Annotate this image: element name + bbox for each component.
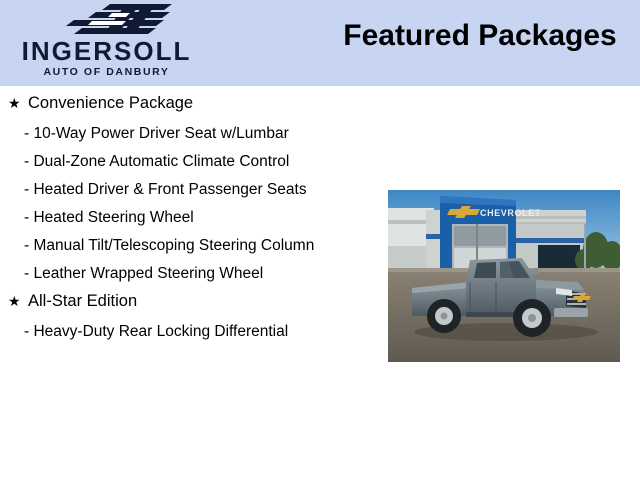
package-feature: - Heated Steering Wheel — [0, 200, 380, 228]
star-bullet-icon: ★ — [8, 290, 21, 312]
vehicle-photo: CHEVROLET — [388, 190, 620, 362]
package-heading: ★ All-Star Edition — [0, 284, 380, 314]
featured-packages-list: ★ Convenience Package - 10-Way Power Dri… — [0, 86, 380, 342]
page-header: INGERSOLL AUTO OF DANBURY Featured Packa… — [0, 0, 640, 86]
star-bullet-icon: ★ — [8, 92, 21, 114]
content-area: ★ Convenience Package - 10-Way Power Dri… — [0, 86, 640, 480]
package-feature: - Leather Wrapped Steering Wheel — [0, 256, 380, 284]
svg-text:CHEVROLET: CHEVROLET — [480, 208, 541, 218]
package-feature: - Dual-Zone Automatic Climate Control — [0, 144, 380, 172]
package-feature: - Heated Driver & Front Passenger Seats — [0, 172, 380, 200]
brand-tagline: AUTO OF DANBURY — [4, 66, 209, 78]
page-title: Featured Packages — [330, 19, 630, 53]
package-feature: - Manual Tilt/Telescoping Steering Colum… — [0, 228, 380, 256]
package-name: Convenience Package — [28, 94, 193, 112]
package-group: ★ Convenience Package - 10-Way Power Dri… — [0, 86, 380, 284]
package-feature: - Heavy-Duty Rear Locking Differential — [0, 314, 380, 342]
ingersoll-wing-emblem-icon — [52, 2, 197, 38]
brand-name: INGERSOLL — [4, 38, 209, 64]
package-group: ★ All-Star Edition - Heavy-Duty Rear Loc… — [0, 284, 380, 342]
package-name: All-Star Edition — [28, 292, 137, 310]
dealer-logo: INGERSOLL AUTO OF DANBURY — [0, 0, 212, 86]
package-feature: - 10-Way Power Driver Seat w/Lumbar — [0, 116, 380, 144]
package-heading: ★ Convenience Package — [0, 86, 380, 116]
